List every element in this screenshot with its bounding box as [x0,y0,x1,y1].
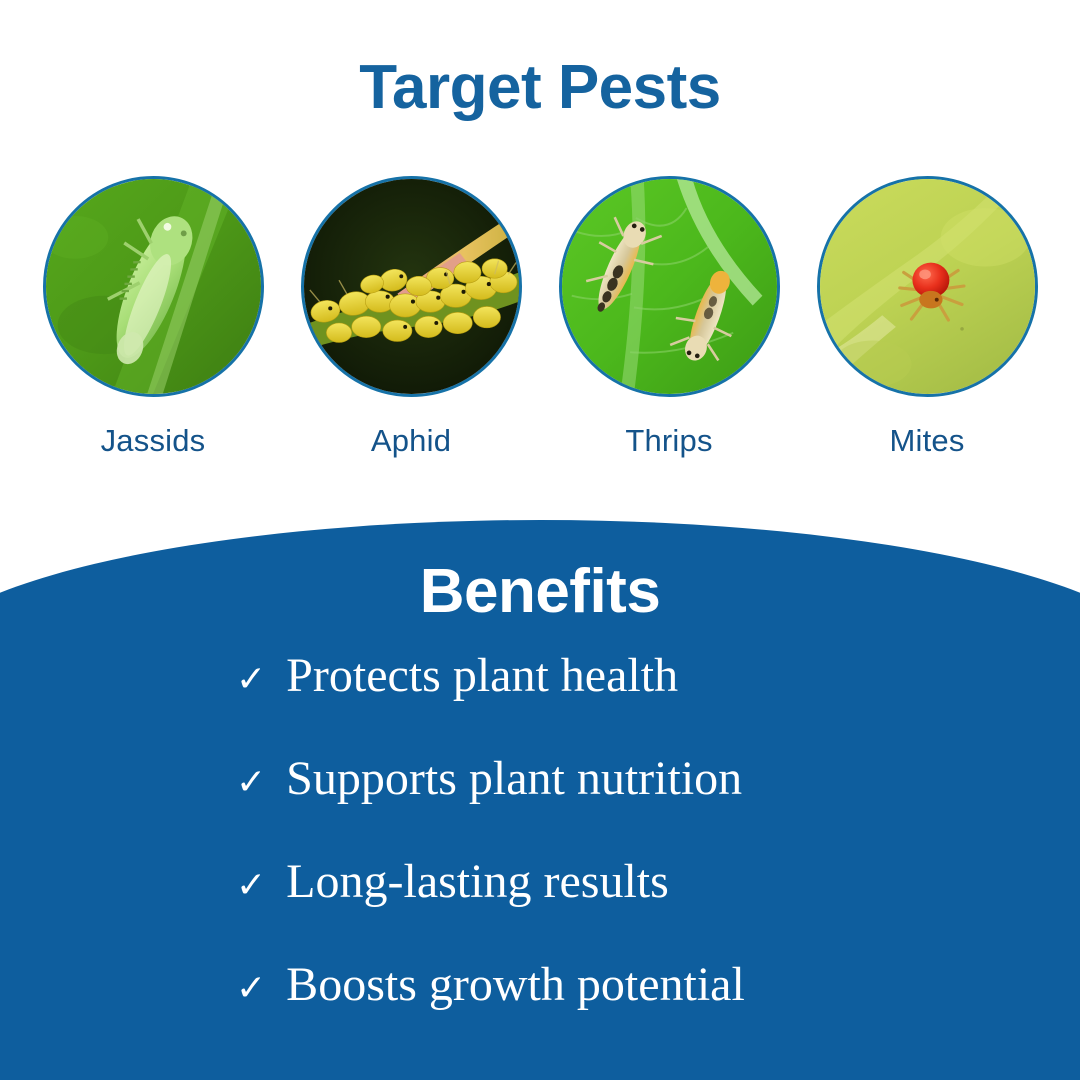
benefit-item-4: ✓ Boosts growth potential [236,961,745,1064]
pest-item-aphid: Aphid [301,176,522,459]
check-icon: ✓ [236,868,266,904]
pest-image-circle-mites [817,176,1038,397]
check-icon: ✓ [236,971,266,1007]
target-pests-benefits-poster: Target Pests [0,0,1080,1080]
pest-image-circle-aphid [301,176,522,397]
aphid-colony-photo [304,179,519,394]
page-title: Target Pests [0,52,1080,123]
thrips-photo [562,179,777,394]
pest-label-aphid: Aphid [371,423,451,459]
benefit-item-1: ✓ Protects plant health [236,652,678,755]
pest-item-mites: Mites [817,176,1038,459]
check-icon: ✓ [236,765,266,801]
pest-image-circle-thrips [559,176,780,397]
benefit-item-2: ✓ Supports plant nutrition [236,755,742,858]
benefits-heading: Benefits [0,556,1080,627]
benefit-item-3: ✓ Long-lasting results [236,858,669,961]
benefits-list: ✓ Protects plant health ✓ Supports plant… [0,652,1080,1064]
pest-image-circle-jassids [43,176,264,397]
check-icon: ✓ [236,662,266,698]
target-pest-list: Jassids [0,176,1080,459]
red-spider-mite-photo [820,179,1035,394]
pest-item-jassids: Jassids [43,176,264,459]
pest-label-thrips: Thrips [625,423,712,459]
pest-label-jassids: Jassids [101,423,206,459]
jassid-leafhopper-photo [46,179,261,394]
pest-label-mites: Mites [889,423,964,459]
benefit-text: Boosts growth potential [286,961,745,1009]
benefit-text: Protects plant health [286,652,678,700]
pest-item-thrips: Thrips [559,176,780,459]
benefit-text: Supports plant nutrition [286,755,742,803]
benefit-text: Long-lasting results [286,858,669,906]
